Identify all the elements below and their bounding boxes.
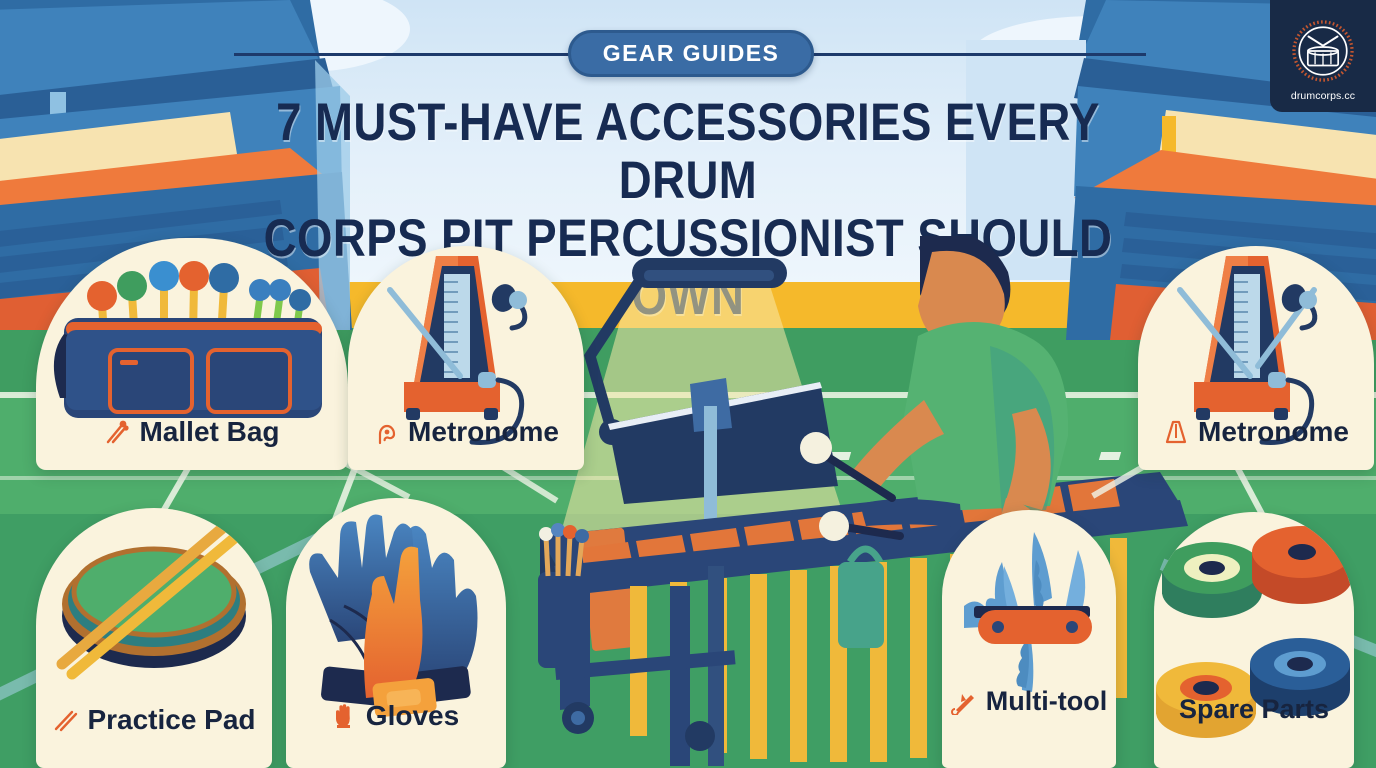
card-label-mallet-bag: Mallet Bag <box>36 416 348 448</box>
card-label-text: Multi-tool <box>986 686 1107 717</box>
card-label-text: Spare Parts <box>1179 694 1329 725</box>
card-label-gloves: Gloves <box>286 700 506 732</box>
ear-icon <box>373 419 399 445</box>
logo-text: drumcorps.cc <box>1291 90 1355 102</box>
header-rule-left <box>234 53 574 56</box>
hand-icon <box>333 703 357 729</box>
mallet-icon <box>104 419 130 445</box>
card-metronome-right[interactable]: Metronome <box>1138 246 1374 470</box>
card-label-metronome-right: Metronome <box>1138 416 1374 448</box>
card-label-metronome-left: Metronome <box>348 416 584 448</box>
gear-guides-badge: GEAR GUIDES <box>568 30 814 77</box>
card-label-text: Gloves <box>366 700 459 732</box>
gear-guides-label: GEAR GUIDES <box>603 40 779 67</box>
card-gloves[interactable]: Gloves <box>286 498 506 768</box>
snare-drum-icon <box>1290 18 1356 84</box>
card-label-text: Mallet Bag <box>139 416 279 448</box>
card-multi-tool[interactable]: Multi-tool <box>942 510 1116 768</box>
card-label-text: Metronome <box>1198 416 1349 448</box>
card-practice-pad[interactable]: Practice Pad <box>36 508 272 768</box>
multi-tool-illustration <box>942 510 1116 768</box>
spare-parts-illustration <box>1154 512 1354 768</box>
drumsticks-icon <box>52 707 78 733</box>
pocket-knife-icon <box>951 689 977 715</box>
page-title-line-1: 7 MUST-HAVE ACCESSORIES EVERY DRUM <box>225 94 1150 210</box>
card-spare-parts[interactable]: Spare Parts <box>1154 512 1354 768</box>
card-label-text: Metronome <box>408 416 559 448</box>
card-metronome-left[interactable]: Metronome <box>348 246 584 470</box>
header-rule-right <box>806 53 1146 56</box>
site-logo-badge[interactable]: drumcorps.cc <box>1270 0 1376 112</box>
card-label-text: Practice Pad <box>87 704 255 736</box>
card-label-multi-tool: Multi-tool <box>942 686 1116 717</box>
percussionist <box>800 236 1068 541</box>
card-label-practice-pad: Practice Pad <box>36 704 272 736</box>
card-mallet-bag[interactable]: Mallet Bag <box>36 238 348 470</box>
card-label-spare-parts: Spare Parts <box>1154 694 1354 725</box>
metronome-icon <box>1163 419 1189 445</box>
infographic-canvas: GEAR GUIDES 7 MUST-HAVE ACCESSORIES EVER… <box>0 0 1376 768</box>
